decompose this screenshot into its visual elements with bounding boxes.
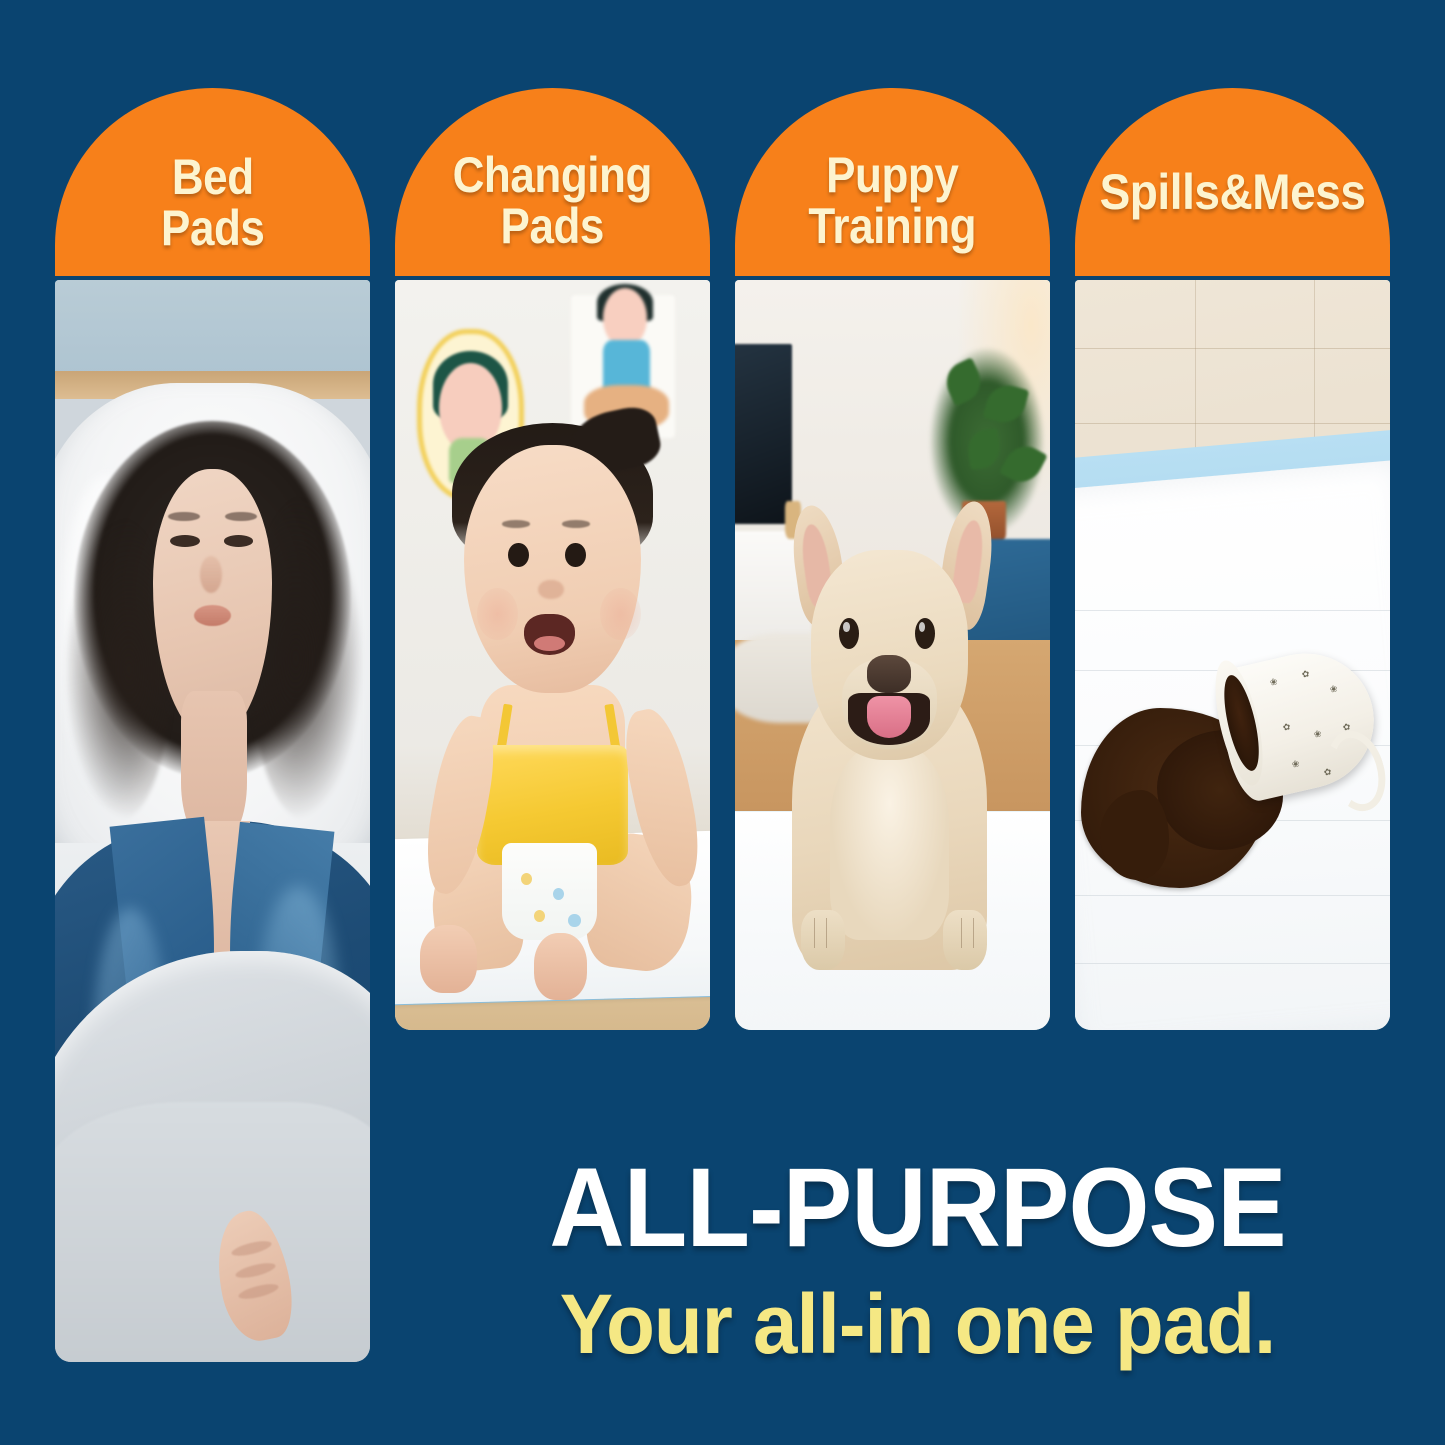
feature-label-text: Spills&Mess bbox=[1100, 167, 1366, 219]
feature-label-text: Puppy Training bbox=[809, 150, 977, 253]
feature-photo-bed-pads bbox=[55, 280, 370, 1362]
feature-photo-changing-pads bbox=[395, 280, 710, 1030]
product-infographic: Bed Pads bbox=[0, 0, 1445, 1445]
headline: ALL-PURPOSE bbox=[427, 1152, 1408, 1264]
feature-label-changing-pads: Changing Pads bbox=[395, 88, 710, 276]
feature-label-spills-mess: Spills&Mess bbox=[1075, 88, 1390, 276]
feature-label-text: Changing Pads bbox=[453, 150, 652, 253]
feature-label-text: Bed Pads bbox=[161, 152, 264, 255]
feature-photo-spills-mess: ❀ ✿ ❀ ✿ ❀ ✿ ❀ ✿ bbox=[1075, 280, 1390, 1030]
subline: Your all-in one pad. bbox=[416, 1282, 1418, 1366]
feature-column-spills-mess: Spills&Mess ❀ ✿ bbox=[1075, 88, 1390, 1030]
feature-label-puppy-training: Puppy Training bbox=[735, 88, 1050, 276]
feature-photo-puppy-training bbox=[735, 280, 1050, 1030]
feature-column-bed-pads: Bed Pads bbox=[55, 88, 370, 1362]
feature-label-bed-pads: Bed Pads bbox=[55, 88, 370, 276]
feature-column-changing-pads: Changing Pads bbox=[395, 88, 710, 1030]
feature-column-puppy-training: Puppy Training bbox=[735, 88, 1050, 1030]
